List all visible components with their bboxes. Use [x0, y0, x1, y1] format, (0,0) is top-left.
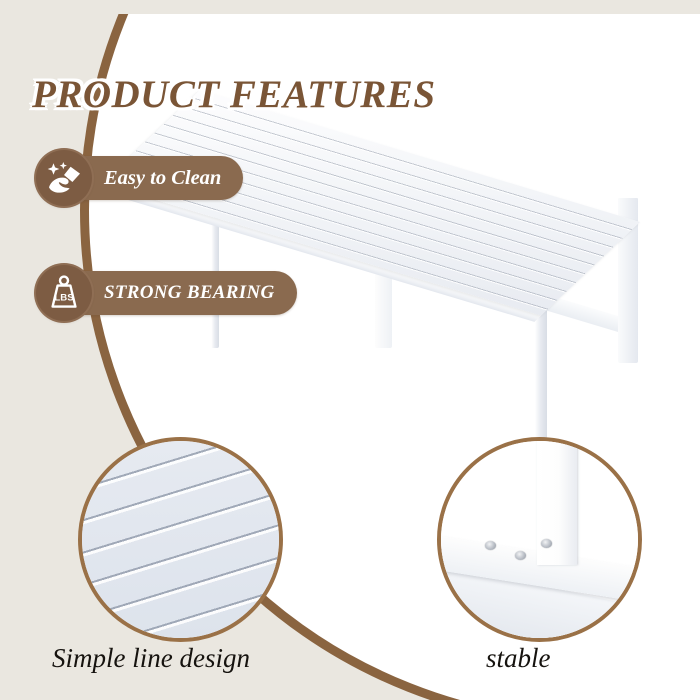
arc-top-mask [0, 0, 700, 14]
leg-joint-screw-closeup [441, 441, 638, 638]
slat-groove-lines [78, 437, 283, 642]
page-title: PRODUCT FEATURES [32, 72, 436, 117]
screw-2 [515, 551, 526, 560]
weight-lbs-icon: LBS [36, 265, 92, 321]
feature-badge-strong-bearing[interactable]: LBS STRONG BEARING [36, 265, 297, 321]
svg-text:LBS: LBS [54, 292, 74, 303]
feature-label-strong-bearing: STRONG BEARING [56, 271, 297, 315]
feature-badge-easy-to-clean[interactable]: Easy to Clean [36, 150, 243, 206]
caption-stable: stable [486, 643, 551, 674]
infographic-canvas: PRODUCT FEATURES Easy to Clean LB [0, 0, 700, 700]
cleaning-cloth-sparkle-icon [36, 150, 92, 206]
tabletop-slat-closeup [82, 441, 279, 638]
detail-circle-stable [437, 437, 642, 642]
caption-simple-line-design: Simple line design [52, 643, 250, 674]
screw-3 [541, 539, 552, 548]
product-image [170, 80, 690, 380]
detail-circle-simple-line-design [78, 437, 283, 642]
screw-1 [485, 541, 496, 550]
